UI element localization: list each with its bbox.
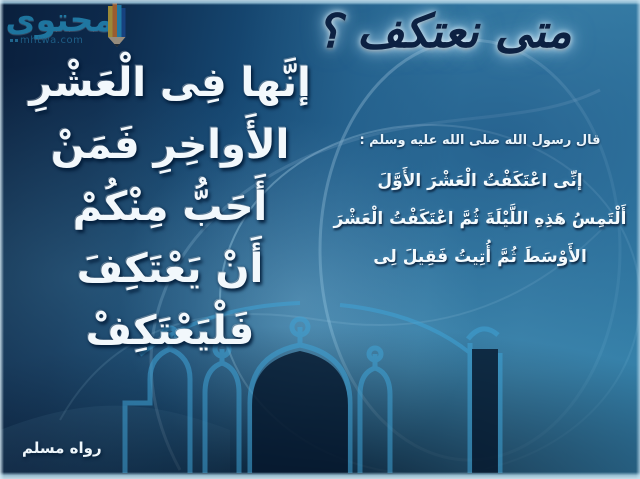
poster-canvas: محتوى mhtwa.com متى نعتكف ؟ إنَّها فِى ا…	[0, 0, 640, 479]
hadith-line: أَلْتَمِسُ هَذِهِ اللَّيْلَةَ ثُمَّ اعْت…	[330, 200, 630, 238]
verse-line: فَلْيَعْتَكِفْ	[0, 300, 340, 362]
logo-dots-decoration	[10, 39, 18, 42]
logo-domain: mhtwa.com	[20, 35, 83, 46]
frame-top-edge	[0, 0, 640, 5]
hadith-line: إنِّى اعْتَكَفْتُ الْعَشْرَ الأَوَّلَ	[330, 162, 630, 200]
frame-right-edge	[636, 0, 640, 479]
verse-line: أَحَبُّ مِنْكُمْ	[0, 176, 340, 238]
frame-left-edge	[0, 0, 4, 479]
verse-line: إنَّها فِى الْعَشْرِ	[0, 52, 340, 114]
pencil-icon	[106, 2, 128, 48]
site-logo[interactable]: محتوى mhtwa.com	[6, 2, 156, 52]
hadith-intro: قال رسول الله صلى الله عليه وسلم :	[330, 128, 630, 154]
hadith-attribution: رواه مسلم	[22, 439, 102, 457]
verse-line: أَنْ يَعْتَكِفَ	[0, 238, 340, 300]
frame-bottom-edge	[0, 472, 640, 479]
logo-wordmark: محتوى	[5, 3, 114, 37]
hadith-line: الأَوْسَطَ ثُمَّ أُتِيتُ فَقِيلَ لِى	[330, 238, 630, 276]
hadith-block: قال رسول الله صلى الله عليه وسلم : إنِّى…	[330, 128, 630, 276]
verse-line: الأَواخِرِ فَمَنْ	[0, 114, 340, 176]
verse-block: إنَّها فِى الْعَشْرِ الأَواخِرِ فَمَنْ أ…	[0, 52, 340, 362]
